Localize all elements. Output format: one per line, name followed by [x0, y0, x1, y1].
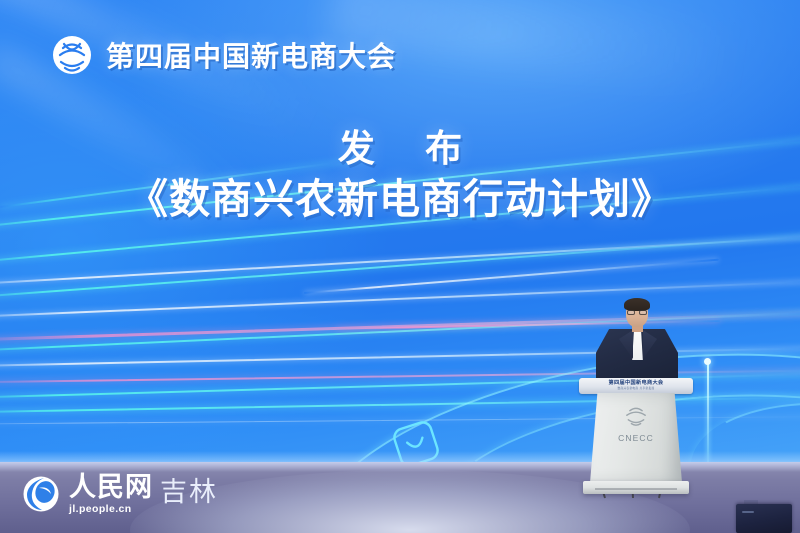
- watermark: 人民网 jl.people.cn 吉林: [22, 474, 218, 515]
- vertical-light-line: [707, 362, 709, 462]
- podium-name-band: 第四届中国新电商大会 数商兴农新电商 共享新发展: [579, 378, 693, 394]
- slide-title-line2: 《数商兴农新电商行动计划》: [0, 177, 800, 222]
- glasses-icon: [627, 310, 647, 315]
- slide-title-line1: 发 布: [0, 128, 800, 171]
- light-streak: [0, 230, 800, 302]
- podium-logo-text: CNECC: [618, 433, 654, 443]
- podium-band-sub-text: 数商兴农新电商 共享新发展: [617, 388, 654, 391]
- slide-title-block: 发 布 《数商兴农新电商行动计划》: [0, 128, 800, 222]
- watermark-text: 人民网 jl.people.cn 吉林: [69, 474, 218, 515]
- light-streak: [0, 232, 800, 287]
- podium: 第四届中国新电商大会 数商兴农新电商 共享新发展 CNECC: [582, 378, 690, 496]
- podium-band-main-text: 第四届中国新电商大会: [609, 381, 664, 386]
- cnecc-logo-icon: [52, 35, 92, 75]
- confidence-monitor: [736, 504, 792, 533]
- event-header-lockup: 第四届中国新电商大会: [52, 35, 396, 75]
- watermark-brand: 人民网: [69, 474, 153, 501]
- event-title: 第四届中国新电商大会: [106, 35, 396, 75]
- light-pole-cap-icon: [704, 358, 711, 365]
- people-cn-globe-icon: [22, 475, 60, 513]
- screenshot-canvas: 第四届中国新电商大会 发 布 《数商兴农新电商行动计划》 第四届中国新电商大会 …: [0, 0, 800, 533]
- speaker-figure: [588, 300, 684, 382]
- cnecc-wave-logo-icon: [623, 406, 649, 431]
- watermark-region: 吉林: [160, 479, 218, 515]
- watermark-url: jl.people.cn: [69, 504, 153, 515]
- podium-base: [583, 481, 689, 494]
- podium-logo-lockup: CNECC: [582, 406, 690, 443]
